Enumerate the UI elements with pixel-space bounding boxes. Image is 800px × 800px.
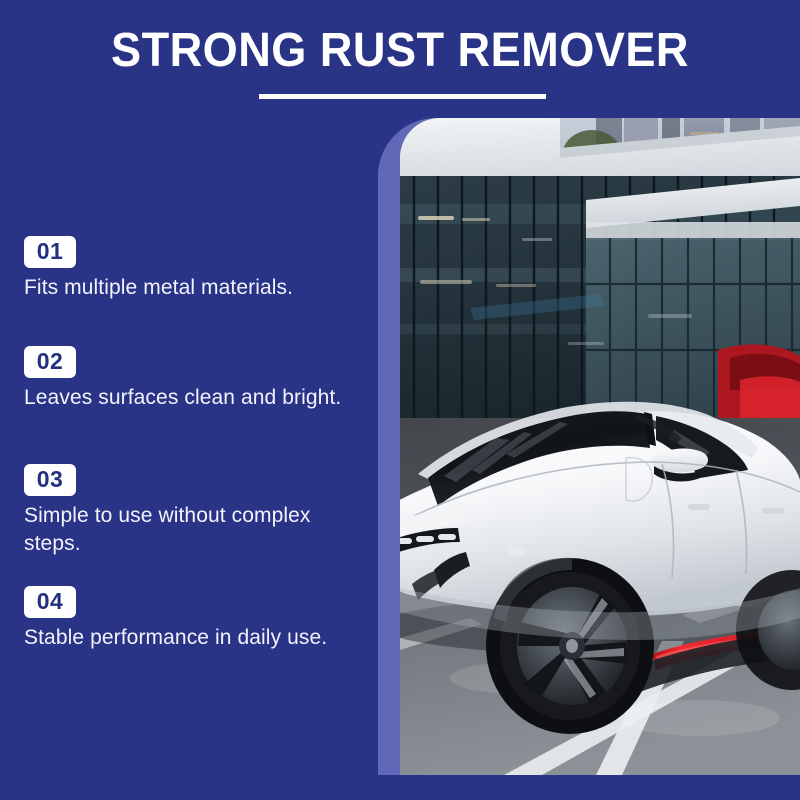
feature-description: Stable performance in daily use.	[24, 624, 366, 652]
feature-number-badge: 03	[24, 464, 76, 496]
list-item: 02 Leaves surfaces clean and bright.	[24, 346, 374, 412]
feature-description: Leaves surfaces clean and bright.	[24, 384, 366, 412]
feature-description: Simple to use without complex steps.	[24, 502, 366, 558]
list-item: 04 Stable performance in daily use.	[24, 586, 374, 652]
car-scene-illustration	[400, 118, 800, 775]
header: STRONG RUST REMOVER	[0, 0, 800, 118]
feature-number-badge: 02	[24, 346, 76, 378]
photo-panel	[378, 118, 800, 775]
product-photo	[400, 118, 800, 775]
list-item: 01 Fits multiple metal materials.	[24, 236, 374, 302]
feature-number-badge: 04	[24, 586, 76, 618]
poster-canvas: STRONG RUST REMOVER 01 Fits multiple met…	[0, 0, 800, 800]
list-item: 03 Simple to use without complex steps.	[24, 464, 374, 558]
feature-number-badge: 01	[24, 236, 76, 268]
feature-description: Fits multiple metal materials.	[24, 274, 366, 302]
title-divider	[259, 94, 546, 99]
page-title: STRONG RUST REMOVER	[24, 24, 776, 78]
